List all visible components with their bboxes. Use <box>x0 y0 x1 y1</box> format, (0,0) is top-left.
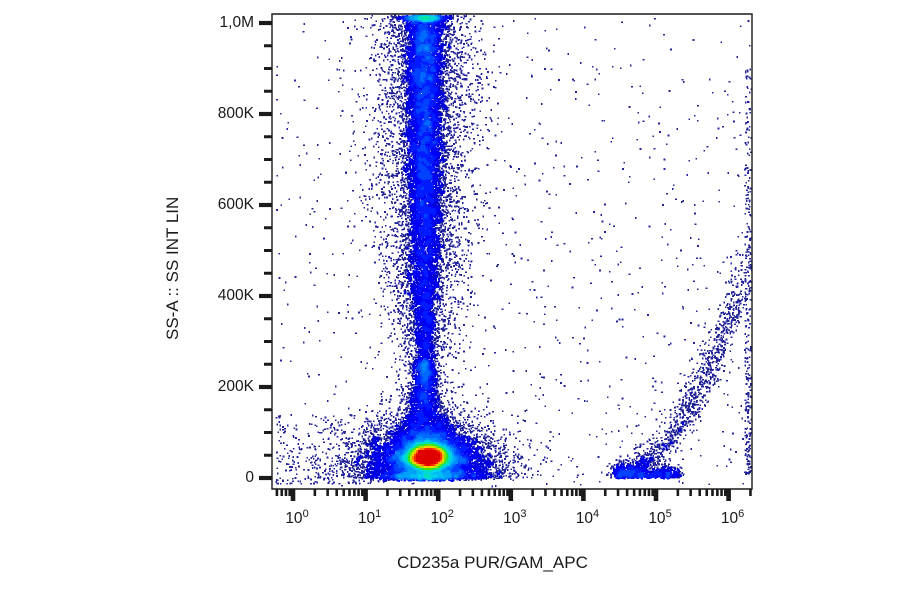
x-tick-mantissa: 10 <box>576 510 593 527</box>
y-tick-label: 800K <box>218 105 254 123</box>
x-axis-title: CD235a PUR/GAM_APC <box>397 553 588 573</box>
y-tick-label: 1,0M <box>220 14 254 32</box>
x-tick-exponent: 1 <box>375 508 381 520</box>
x-tick-exponent: 6 <box>738 508 744 520</box>
x-tick-label: 104 <box>576 508 599 528</box>
y-tick-label: 0 <box>245 469 254 487</box>
x-tick-label: 103 <box>503 508 526 528</box>
y-tick-label: 400K <box>218 287 254 305</box>
flow-cytometry-figure: SS-A :: SS INT LIN CD235a PUR/GAM_APC 02… <box>0 0 900 594</box>
x-tick-mantissa: 10 <box>358 510 375 527</box>
y-tick-label: 200K <box>218 378 254 396</box>
x-tick-label: 100 <box>285 508 308 528</box>
x-tick-label: 102 <box>431 508 454 528</box>
y-axis-title: SS-A :: SS INT LIN <box>163 197 183 340</box>
x-tick-mantissa: 10 <box>285 510 302 527</box>
x-tick-label: 105 <box>648 508 671 528</box>
x-tick-mantissa: 10 <box>431 510 448 527</box>
x-tick-exponent: 4 <box>593 508 599 520</box>
x-tick-exponent: 0 <box>303 508 309 520</box>
x-tick-exponent: 5 <box>666 508 672 520</box>
x-tick-mantissa: 10 <box>721 510 738 527</box>
x-tick-exponent: 2 <box>448 508 454 520</box>
x-tick-label: 101 <box>358 508 381 528</box>
x-tick-exponent: 3 <box>520 508 526 520</box>
scatter-plot-canvas <box>0 0 900 594</box>
x-tick-mantissa: 10 <box>503 510 520 527</box>
x-tick-label: 106 <box>721 508 744 528</box>
x-tick-mantissa: 10 <box>648 510 665 527</box>
y-tick-label: 600K <box>218 196 254 214</box>
